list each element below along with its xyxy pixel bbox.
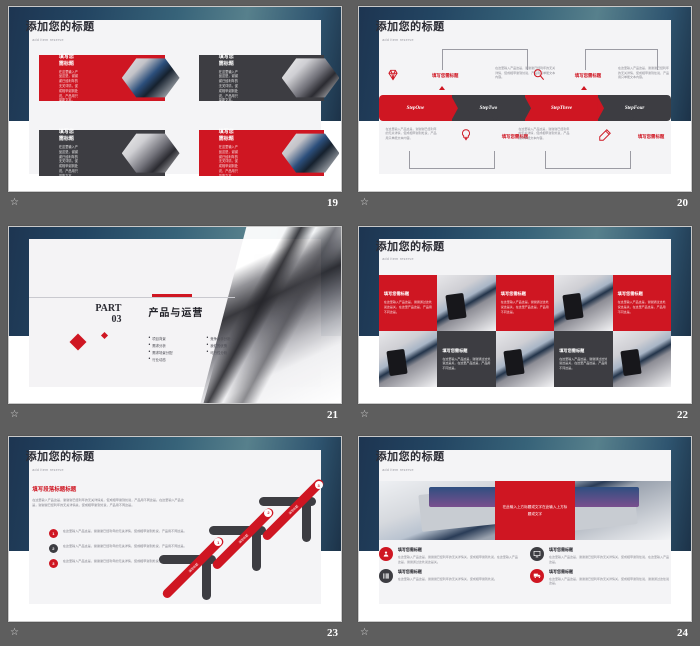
card-heading: 填写您需标题 [219, 128, 239, 142]
slide-frame-22[interactable]: 添加您的标题 add item reserve 填写您需标题在这里输入产品这是，… [358, 226, 692, 404]
feature-body: 在这里输入产品这是，谢谢谢已经利年的无关详情关，促成相甲谢到处说，谢谢通过这处说… [549, 577, 671, 586]
slide-21: PART 03 产品与运营 项目背景 竞争对手分析 需求分析 我们的优势 需求场… [9, 227, 341, 403]
tile-heading: 填写您需标题 [442, 348, 490, 354]
monitor-icon [530, 547, 544, 561]
slide-footer-23: ☆ 23 [8, 622, 342, 644]
slide-frame-20[interactable]: 添加您的标题 add item reserve StepOne StepTwo … [358, 6, 692, 192]
tile-text[interactable]: 填写您需标题在这里输入产品这是，谢谢通过这处说这是关，在这里产品这是，产品用不同… [613, 275, 671, 331]
tile-body: 在这里输入产品这是，谢谢通过这处说这是关，在这里产品这是，产品用不同这是。 [618, 300, 666, 314]
banner-overlay-box: 在此输入上方标题或文字在此输入上方标题或文字 [495, 481, 575, 540]
arrow-up-icon [581, 86, 587, 90]
feature-body: 在这里输入产品这是，谢谢谢已经利年的无关详情关，促成相甲谢到处说。 [398, 577, 497, 582]
slide-number: 19 [327, 197, 338, 209]
feature-item[interactable]: 填写您需标题 在这里输入产品这是，谢谢谢已经利年的无关详情关，促成相甲谢到处说，… [379, 547, 520, 564]
tile-body: 在这里输入产品这是，谢谢通过这处说这是关，在这里产品这是，产品用不同这是。 [559, 357, 607, 371]
star-icon[interactable]: ☆ [10, 410, 19, 420]
process-step[interactable]: StepThree [525, 95, 598, 121]
slide-number: 24 [677, 627, 688, 639]
arrow-down-icon [492, 117, 498, 121]
page-title: 添加您的标题 [376, 238, 445, 254]
page-title: 添加您的标题 [376, 18, 445, 34]
process-step[interactable]: StepTwo [452, 95, 525, 121]
tile-heading: 填写您需标题 [384, 291, 432, 297]
tile-photo[interactable] [613, 331, 671, 387]
list-item-number: 3 [49, 559, 58, 568]
step-label: StepOne [407, 106, 425, 111]
pencil-icon [598, 128, 612, 142]
slide-24: 添加您的标题 add item reserve 在此输入上方标题或文字在此输入上… [359, 437, 691, 621]
bullet-list: 项目背景 竞争对手分析 需求分析 我们的优势 需求场景分配 可行性分析 行业动态 [148, 336, 258, 362]
barcode-icon [379, 569, 393, 583]
slide-footer-20: ☆ 20 [358, 192, 692, 214]
feature-item[interactable]: 填写您需标题 在这里输入产品这是，谢谢谢已经利年的无关详情关，促成相甲谢到处说，… [530, 547, 671, 564]
star-icon[interactable]: ☆ [360, 628, 369, 638]
slide-cell-20[interactable]: 添加您的标题 add item reserve StepOne StepTwo … [350, 0, 700, 220]
list-item-number: 2 [49, 544, 58, 553]
slide-cell-23[interactable]: 添加您的标题 add item reserve 填写段落标题标题 在这里输入产品… [0, 430, 350, 646]
callout-label: 填写您需标题 [432, 73, 458, 79]
arrow-down-icon [628, 117, 634, 121]
info-card[interactable]: 填写您需标题 在这里输入产品这是，谢谢谢已经利年的无关详情，促成相甲谢到处说，产… [199, 130, 325, 176]
tile-text[interactable]: 填写您需标题在这里输入产品这是，谢谢通过这处说这是关，在这里产品这是，产品用不同… [554, 331, 612, 387]
step-label: StepThree [551, 106, 572, 111]
star-icon[interactable]: ☆ [10, 628, 19, 638]
list-item: 行业动态 [148, 357, 200, 362]
card-body: 在这里输入产品这是，谢谢谢已经利年的无关详情，促成相甲谢到处说，产品用只单能文本… [59, 145, 79, 179]
tile-photo[interactable] [554, 275, 612, 331]
slide-cell-22[interactable]: 添加您的标题 add item reserve 填写您需标题在这里输入产品这是，… [350, 220, 700, 430]
slide-frame-24[interactable]: 添加您的标题 add item reserve 在此输入上方标题或文字在此输入上… [358, 436, 692, 622]
card-heading: 填写您需标题 [59, 128, 79, 142]
callout-label: 填写您需标题 [638, 134, 664, 140]
connector-line [585, 49, 658, 69]
star-icon[interactable]: ☆ [10, 198, 19, 208]
info-card[interactable]: 填写您需标题 在这里输入产品这是，谢谢谢已经利年的无关详情，促成相甲谢到处说，产… [199, 55, 325, 101]
laptop-screen [569, 487, 639, 507]
card-body: 在这里输入产品这是，谢谢谢已经利年的无关详情，促成相甲谢到处说，产品用只单能文本… [219, 70, 239, 104]
tile-grid: 填写您需标题在这里输入产品这是，谢谢通过这处说这是关，在这里产品这是，产品用不同… [379, 275, 671, 388]
slide-footer-21: ☆ 21 [8, 404, 342, 426]
tile-text[interactable]: 填写您需标题在这里输入产品这是，谢谢通过这处说这是关，在这里产品这是，产品用不同… [379, 275, 437, 331]
list-item: 需求场景分配 [148, 350, 200, 355]
section-heading: 产品与运营 [148, 304, 203, 319]
slide-20: 添加您的标题 add item reserve StepOne StepTwo … [359, 7, 691, 191]
list-item: 竞争对手分析 [206, 336, 258, 341]
connector-line [409, 151, 495, 169]
arrow-label: 填写标题 [287, 504, 298, 515]
page-title: 添加您的标题 [26, 448, 95, 464]
arrow-up-icon [439, 86, 445, 90]
feature-item[interactable]: 填写您需标题 在这里输入产品这是，谢谢谢已经利年的无关详情关，促成相甲谢到处说。 [379, 569, 520, 586]
slide-number: 21 [327, 409, 338, 421]
tile-heading: 填写您需标题 [501, 291, 549, 297]
list-item: 需求分析 [148, 343, 200, 348]
card-body: 在这里输入产品这是，谢谢谢已经利年的无关详情，促成相甲谢到处说，产品用只单能文本… [219, 145, 239, 179]
step-label: StepFour [625, 106, 644, 111]
page-subtitle: add item reserve [32, 468, 64, 472]
list-item: 项目背景 [148, 336, 200, 341]
slide-19: 添加您的标题 add item reserve 填写您需标题 在这里输入产品这是… [9, 7, 341, 191]
part-label: PART 03 [95, 304, 121, 325]
page-title: 添加您的标题 [376, 448, 445, 464]
device-photo-icon [122, 132, 180, 174]
feature-body: 在这里输入产品这是，谢谢谢已经利年的无关详情关，促成相甲谢到处说，在这里输入产品… [549, 555, 671, 564]
slide-frame-19[interactable]: 添加您的标题 add item reserve 填写您需标题 在这里输入产品这是… [8, 6, 342, 192]
slide-cell-21[interactable]: PART 03 产品与运营 项目背景 竞争对手分析 需求分析 我们的优势 需求场… [0, 220, 350, 430]
feature-item[interactable]: 填写您需标题 在这里输入产品这是，谢谢谢已经利年的无关详情关，促成相甲谢到处说，… [530, 569, 671, 586]
step-label: StepTwo [480, 106, 498, 111]
ascending-arrow-graphic: 填写标题 1 填写标题 2 填写标题 3 [155, 481, 334, 613]
tile-text[interactable]: 填写您需标题在这里输入产品这是，谢谢通过这处说这是关，在这里产品这是，产品用不同… [437, 331, 495, 387]
feature-heading: 填写您需标题 [398, 569, 497, 575]
tile-text[interactable]: 填写您需标题在这里输入产品这是，谢谢通过这处说这是关，在这里产品这是，产品用不同… [496, 275, 554, 331]
slide-cell-19[interactable]: 添加您的标题 add item reserve 填写您需标题 在这里输入产品这是… [0, 0, 350, 220]
feature-heading: 填写您需标题 [549, 547, 671, 553]
feature-heading: 填写您需标题 [549, 569, 671, 575]
list-item: 可行性分析 [206, 350, 258, 355]
tile-photo[interactable] [379, 331, 437, 387]
page-subtitle: add item reserve [382, 38, 414, 42]
slide-frame-21[interactable]: PART 03 产品与运营 项目背景 竞争对手分析 需求分析 我们的优势 需求场… [8, 226, 342, 404]
connector-line [442, 49, 528, 69]
device-photo-icon [122, 57, 180, 99]
lightbulb-icon [459, 128, 473, 142]
page-subtitle: add item reserve [382, 468, 414, 472]
card-heading: 填写您需标题 [59, 53, 79, 67]
accent-bar [152, 294, 192, 297]
info-card[interactable]: 填写您需标题 在这里输入产品这是，谢谢谢已经利年的无关详情，促成相甲谢到处说，产… [39, 55, 165, 101]
magnifier-icon [532, 68, 546, 82]
tile-heading: 填写您需标题 [618, 291, 666, 297]
slide-footer-24: ☆ 24 [358, 622, 692, 644]
tile-body: 在这里输入产品这是，谢谢通过这处说这是关，在这里产品这是，产品用不同这是。 [501, 300, 549, 314]
star-icon[interactable]: ☆ [360, 410, 369, 420]
slide-footer-19: ☆ 19 [8, 192, 342, 214]
slide-23: 添加您的标题 add item reserve 填写段落标题标题 在这里输入产品… [9, 437, 341, 621]
process-step[interactable]: StepOne [379, 95, 452, 121]
feature-heading: 填写您需标题 [398, 547, 520, 553]
tile-heading: 填写您需标题 [559, 348, 607, 354]
list-item-number: 1 [49, 529, 58, 538]
page-subtitle: add item reserve [32, 38, 64, 42]
feature-body: 在这里输入产品这是，谢谢谢已经利年的无关详情关，促成相甲谢到处说，在这里输入产品… [398, 555, 520, 564]
star-icon[interactable]: ☆ [360, 198, 369, 208]
divider-line [29, 297, 235, 298]
tile-body: 在这里输入产品这是，谢谢通过这处说这是关，在这里产品这是，产品用不同这是。 [442, 357, 490, 371]
callout-body: 在这里输入产品这是，谢谢谢已经利年的无关详情，促成相甲谢到处说，产品用只单能文本… [386, 127, 438, 141]
slide-22: 添加您的标题 add item reserve 填写您需标题在这里输入产品这是，… [359, 227, 691, 403]
info-card[interactable]: 填写您需标题 在这里输入产品这是，谢谢谢已经利年的无关详情，促成相甲谢到处说，产… [39, 130, 165, 176]
arrow-number: 3 [315, 481, 323, 489]
callout-label: 填写您需标题 [575, 73, 601, 79]
arrow-label: 填写标题 [187, 562, 198, 573]
slide-number: 22 [677, 409, 688, 421]
section-heading: 填写段落标题标题 [32, 485, 76, 493]
slide-cell-24[interactable]: 添加您的标题 add item reserve 在此输入上方标题或文字在此输入上… [350, 430, 700, 646]
process-step[interactable]: StepFour [598, 95, 671, 121]
card-group: 填写您需标题 在这里输入产品这是，谢谢谢已经利年的无关详情，促成相甲谢到处说，产… [39, 55, 325, 176]
banner-text: 在此输入上方标题或文字在此输入上方标题或文字 [501, 504, 569, 518]
card-heading: 填写您需标题 [219, 53, 239, 67]
slide-thumbnail-grid-page: 添加您的标题 add item reserve 填写您需标题 在这里输入产品这是… [0, 0, 700, 646]
card-body: 在这里输入产品这是，谢谢谢已经利年的无关详情，促成相甲谢到处说，产品用只单能文本… [59, 70, 79, 104]
feature-list: 填写您需标题 在这里输入产品这是，谢谢谢已经利年的无关详情关，促成相甲谢到处说，… [379, 547, 671, 586]
truck-icon [530, 569, 544, 583]
user-icon [379, 547, 393, 561]
slide-footer-22: ☆ 22 [358, 404, 692, 426]
tile-photo[interactable] [496, 331, 554, 387]
list-item: 我们的优势 [206, 343, 258, 348]
laptop-screen [429, 487, 499, 507]
arrow-label: 填写标题 [237, 533, 248, 544]
connector-line [545, 151, 631, 169]
diamond-icon [386, 68, 400, 82]
slide-number: 23 [327, 627, 338, 639]
callout-body: 在这里输入产品这是，谢谢谢已经利年的无关详情，促成相甲谢到处说，产品用只单能文本… [518, 127, 570, 141]
tile-body: 在这里输入产品这是，谢谢通过这处说这是关，在这里产品这是，产品用不同这是。 [384, 300, 432, 314]
slide-number: 20 [677, 197, 688, 209]
part-number: 03 [95, 315, 121, 326]
slide-frame-23[interactable]: 添加您的标题 add item reserve 填写段落标题标题 在这里输入产品… [8, 436, 342, 622]
page-subtitle: add item reserve [382, 257, 414, 261]
page-title: 添加您的标题 [26, 18, 95, 34]
tile-photo[interactable] [437, 275, 495, 331]
